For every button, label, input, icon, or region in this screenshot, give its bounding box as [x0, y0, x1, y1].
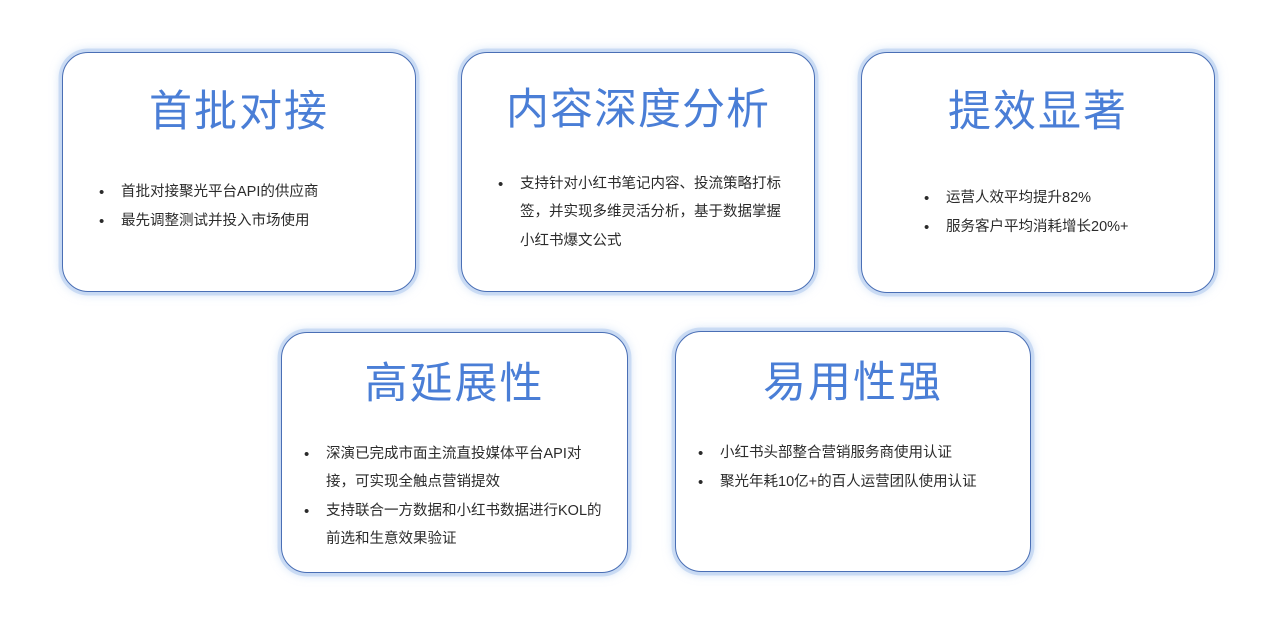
slide-canvas: 首批对接 • 首批对接聚光平台API的供应商 • 最先调整测试并投入市场使用 内… — [0, 0, 1280, 625]
card-bullet-list: • 运营人效平均提升82% • 服务客户平均消耗增长20%+ — [862, 184, 1214, 243]
bullet-text: 支持联合一方数据和小红书数据进行KOL的前选和生意效果验证 — [326, 497, 608, 554]
card-bullet-list: • 小红书头部整合营销服务商使用认证 • 聚光年耗10亿+的百人运营团队使用认证 — [676, 439, 1030, 498]
list-item: • 支持联合一方数据和小红书数据进行KOL的前选和生意效果验证 — [304, 497, 609, 554]
list-item: • 深演已完成市面主流直投媒体平台API对接，可实现全触点营销提效 — [304, 440, 609, 497]
bullet-text: 运营人效平均提升82% — [946, 184, 1196, 212]
bullet-dot-icon: • — [498, 170, 520, 199]
card-title: 首批对接 — [149, 91, 329, 134]
feature-card-first-integration[interactable]: 首批对接 • 首批对接聚光平台API的供应商 • 最先调整测试并投入市场使用 — [62, 52, 416, 292]
bullet-text: 首批对接聚光平台API的供应商 — [121, 178, 397, 206]
feature-card-ease-of-use[interactable]: 易用性强 • 小红书头部整合营销服务商使用认证 • 聚光年耗10亿+的百人运营团… — [675, 331, 1031, 572]
bullet-text: 聚光年耗10亿+的百人运营团队使用认证 — [720, 468, 1008, 496]
bullet-text: 支持针对小红书笔记内容、投流策略打标签，并实现多维灵活分析，基于数据掌握小红书爆… — [520, 170, 788, 255]
bullet-dot-icon: • — [304, 497, 326, 526]
card-bullet-list: • 支持针对小红书笔记内容、投流策略打标签，并实现多维灵活分析，基于数据掌握小红… — [462, 170, 814, 255]
bullet-dot-icon: • — [698, 439, 720, 468]
card-bullet-list: • 深演已完成市面主流直投媒体平台API对接，可实现全触点营销提效 • 支持联合… — [282, 440, 627, 553]
card-title: 内容深度分析 — [506, 89, 770, 132]
list-item: • 首批对接聚光平台API的供应商 — [99, 178, 397, 207]
bullet-text: 最先调整测试并投入市场使用 — [121, 207, 397, 235]
list-item: • 运营人效平均提升82% — [924, 184, 1196, 213]
feature-card-content-depth-analysis[interactable]: 内容深度分析 • 支持针对小红书笔记内容、投流策略打标签，并实现多维灵活分析，基… — [461, 52, 815, 292]
bullet-dot-icon: • — [99, 178, 121, 207]
list-item: • 聚光年耗10亿+的百人运营团队使用认证 — [698, 468, 1012, 497]
bullet-dot-icon: • — [99, 207, 121, 236]
list-item: • 最先调整测试并投入市场使用 — [99, 207, 397, 236]
card-title: 高延展性 — [365, 363, 545, 406]
bullet-text: 服务客户平均消耗增长20%+ — [946, 213, 1196, 241]
card-title: 提效显著 — [948, 91, 1128, 134]
bullet-dot-icon: • — [924, 213, 946, 242]
bullet-dot-icon: • — [698, 468, 720, 497]
bullet-text: 深演已完成市面主流直投媒体平台API对接，可实现全触点营销提效 — [326, 440, 608, 497]
card-title: 易用性强 — [763, 362, 943, 405]
list-item: • 支持针对小红书笔记内容、投流策略打标签，并实现多维灵活分析，基于数据掌握小红… — [498, 170, 790, 255]
list-item: • 小红书头部整合营销服务商使用认证 — [698, 439, 1012, 468]
feature-card-high-extensibility[interactable]: 高延展性 • 深演已完成市面主流直投媒体平台API对接，可实现全触点营销提效 •… — [281, 332, 628, 573]
card-bullet-list: • 首批对接聚光平台API的供应商 • 最先调整测试并投入市场使用 — [63, 178, 415, 237]
feature-card-efficiency-gain[interactable]: 提效显著 • 运营人效平均提升82% • 服务客户平均消耗增长20%+ — [861, 52, 1215, 293]
bullet-dot-icon: • — [304, 440, 326, 469]
bullet-text: 小红书头部整合营销服务商使用认证 — [720, 439, 1008, 467]
bullet-dot-icon: • — [924, 184, 946, 213]
list-item: • 服务客户平均消耗增长20%+ — [924, 213, 1196, 242]
